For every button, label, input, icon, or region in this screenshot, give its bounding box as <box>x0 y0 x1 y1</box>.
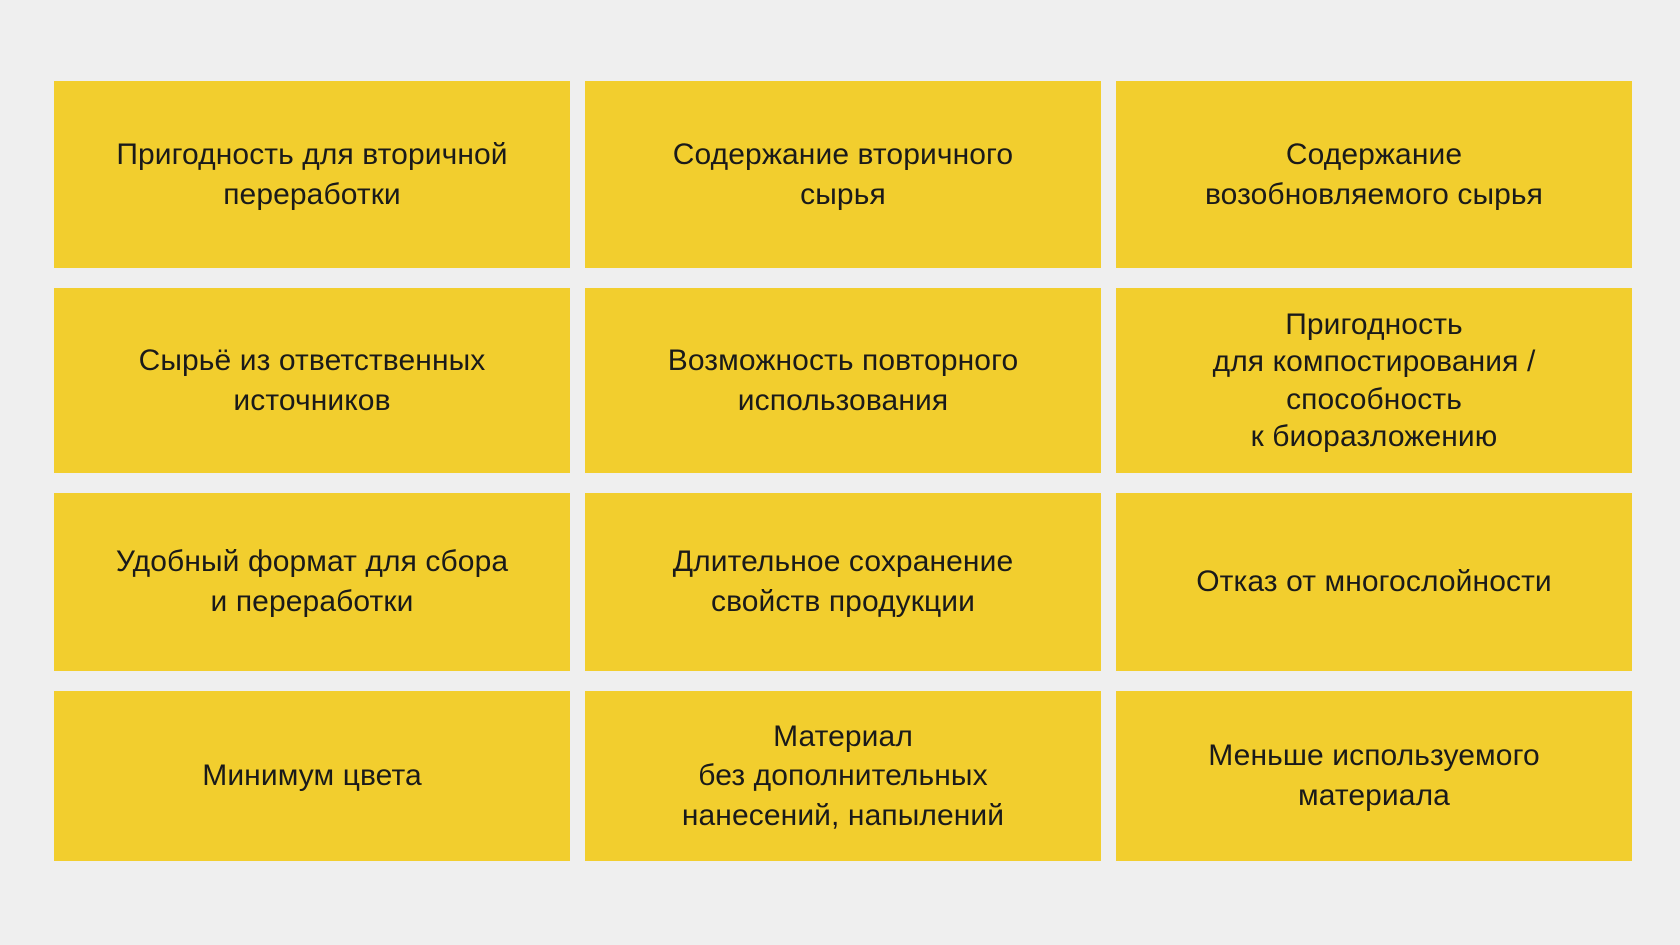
criteria-tile-no-multilayer[interactable]: Отказ от многослойности <box>1116 493 1632 671</box>
criteria-tile-label: Меньше используемого материала <box>1208 736 1540 815</box>
criteria-tile-minimal-color[interactable]: Минимум цвета <box>54 691 570 861</box>
criteria-tile-label: Пригодность для компостирования / способ… <box>1213 306 1536 455</box>
criteria-tile-no-extra-coatings[interactable]: Материал без дополнительных нанесений, н… <box>585 691 1101 861</box>
criteria-tile-recycled-content[interactable]: Содержание вторичного сырья <box>585 81 1101 268</box>
criteria-tile-label: Минимум цвета <box>202 756 422 796</box>
criteria-tile-label: Содержание возобновляемого сырья <box>1205 135 1543 214</box>
criteria-tile-less-material[interactable]: Меньше используемого материала <box>1116 691 1632 861</box>
criteria-tile-label: Удобный формат для сбора и переработки <box>116 542 508 621</box>
criteria-grid: Пригодность для вторичной переработки Со… <box>54 81 1632 878</box>
criteria-tile-label: Отказ от многослойности <box>1196 562 1552 602</box>
criteria-tile-responsible-sourcing[interactable]: Сырьё из ответственных источников <box>54 288 570 473</box>
criteria-tile-label: Возможность повторного использования <box>668 341 1019 420</box>
criteria-tile-collection-format[interactable]: Удобный формат для сбора и переработки <box>54 493 570 671</box>
criteria-tile-product-preservation[interactable]: Длительное сохранение свойств продукции <box>585 493 1101 671</box>
criteria-tile-renewable-content[interactable]: Содержание возобновляемого сырья <box>1116 81 1632 268</box>
criteria-board: Пригодность для вторичной переработки Со… <box>0 0 1680 945</box>
criteria-tile-recyclability[interactable]: Пригодность для вторичной переработки <box>54 81 570 268</box>
criteria-tile-label: Пригодность для вторичной переработки <box>116 135 507 214</box>
criteria-tile-label: Содержание вторичного сырья <box>673 135 1013 214</box>
criteria-tile-compostability[interactable]: Пригодность для компостирования / способ… <box>1116 288 1632 473</box>
criteria-tile-reusability[interactable]: Возможность повторного использования <box>585 288 1101 473</box>
criteria-tile-label: Сырьё из ответственных источников <box>139 341 486 420</box>
criteria-tile-label: Длительное сохранение свойств продукции <box>673 542 1014 621</box>
criteria-tile-label: Материал без дополнительных нанесений, н… <box>682 717 1004 836</box>
